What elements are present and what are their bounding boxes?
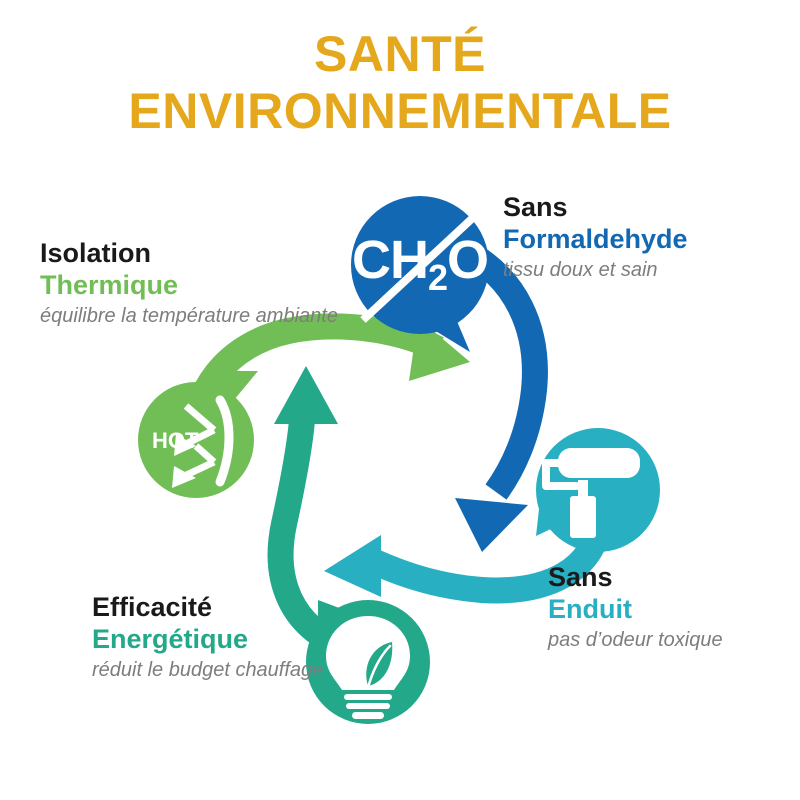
label-subheading: Energétique [92, 624, 352, 656]
label-description: tissu doux et sain [503, 258, 793, 282]
label-description: pas d’odeur toxique [548, 628, 798, 652]
label-description: réduit le budget chauffage [92, 658, 352, 682]
label-heading: Isolation [40, 238, 340, 270]
label-efficacite-energetique: Efficacité Energétique réduit le budget … [92, 592, 352, 682]
infographic-page: SANTÉ ENVIRONNEMENTALE [0, 0, 800, 800]
label-isolation-thermique: Isolation Thermique équilibre la tempéra… [40, 238, 340, 328]
label-heading: Sans [503, 192, 793, 224]
label-heading: Efficacité [92, 592, 352, 624]
label-subheading: Thermique [40, 270, 340, 302]
label-sans-enduit: Sans Enduit pas d’odeur toxique [548, 562, 798, 652]
label-heading: Sans [548, 562, 798, 594]
label-sans-formaldehyde: Sans Formaldehyde tissu doux et sain [503, 192, 793, 282]
label-description: équilibre la température ambiante [40, 304, 340, 328]
label-subheading: Formaldehyde [503, 224, 793, 256]
label-subheading: Enduit [548, 594, 798, 626]
